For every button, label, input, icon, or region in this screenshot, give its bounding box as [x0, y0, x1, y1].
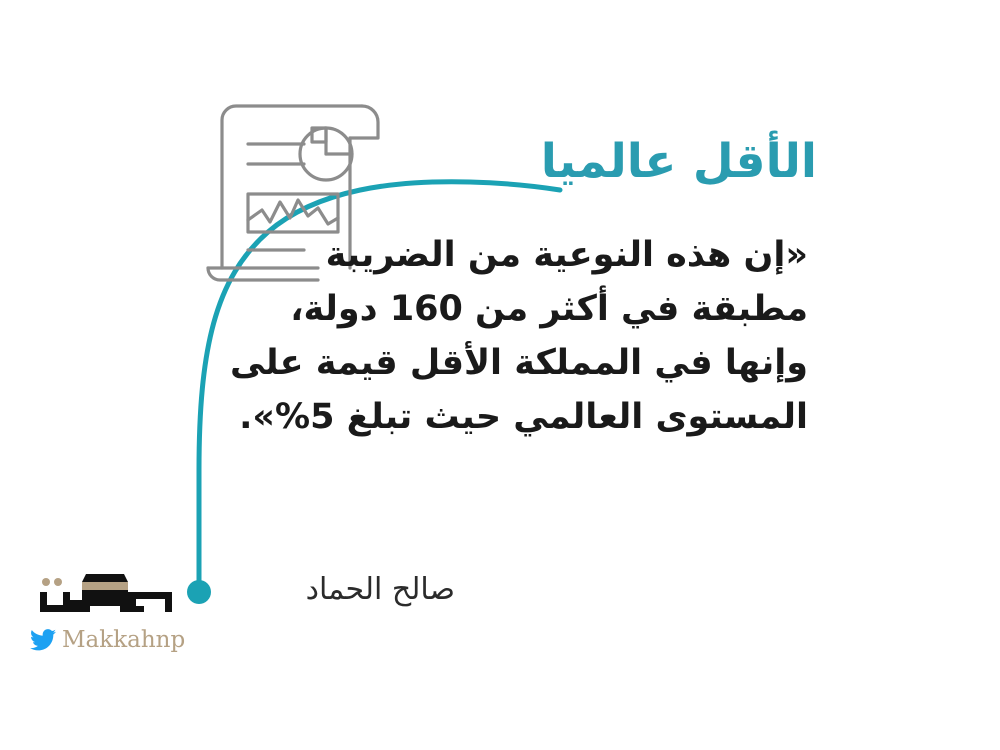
- page-title: الأقل عالميا: [397, 137, 817, 186]
- line-chart-icon: [248, 194, 338, 232]
- quote-line-4: المستوى العالمي حيث تبلغ 5%».: [248, 390, 808, 444]
- quote-line-3: وإنها في المملكة الأقل قيمة على: [248, 336, 808, 390]
- quote-text: «إن هذه النوعية من الضريبة مطبقة في أكثر…: [248, 228, 808, 444]
- quote-card: الأقل عالميا «إن هذه النوعية من الضريبة …: [0, 0, 1000, 750]
- quote-line-1: «إن هذه النوعية من الضريبة: [248, 228, 808, 282]
- makkah-wordmark-icon: [24, 562, 184, 624]
- publisher-logo[interactable]: Makkahnp: [24, 562, 184, 660]
- twitter-handle-text: Makkahnp: [62, 629, 185, 652]
- attribution-name: صالح الحماد: [225, 572, 455, 607]
- twitter-handle[interactable]: Makkahnp: [30, 626, 185, 654]
- twitter-bird-icon: [30, 629, 56, 651]
- quote-line-2: مطبقة في أكثر من 160 دولة،: [248, 282, 808, 336]
- teal-dot: [187, 580, 211, 604]
- makkah-logo-mark: [24, 562, 184, 624]
